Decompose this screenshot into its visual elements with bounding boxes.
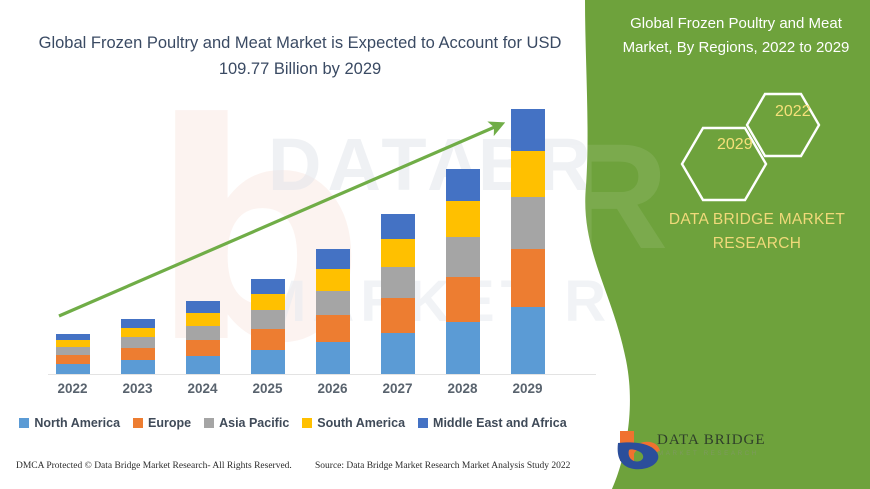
bar-segment-2022-s1 bbox=[56, 355, 90, 364]
bar-segment-2026-s0 bbox=[316, 342, 350, 374]
bar-segment-2027-s0 bbox=[381, 333, 415, 374]
bar-segment-2024-s0 bbox=[186, 356, 220, 374]
x-axis-label-2027: 2027 bbox=[368, 381, 428, 396]
bar-segment-2022-s2 bbox=[56, 347, 90, 355]
logo-subtitle: MARKET RESEARCH bbox=[658, 450, 759, 457]
bar-segment-2024-s3 bbox=[186, 313, 220, 326]
bar-segment-2029-s2 bbox=[511, 197, 545, 249]
bar-2026 bbox=[316, 249, 350, 374]
bar-segment-2028-s3 bbox=[446, 201, 480, 237]
x-axis-label-2023: 2023 bbox=[108, 381, 168, 396]
bar-segment-2028-s2 bbox=[446, 237, 480, 277]
x-axis-label-2028: 2028 bbox=[433, 381, 493, 396]
legend-label: Europe bbox=[148, 416, 191, 430]
bar-segment-2029-s0 bbox=[511, 307, 545, 374]
chart-x-axis-labels: 20222023202420252026202720282029 bbox=[0, 381, 586, 403]
legend-label: South America bbox=[317, 416, 405, 430]
bar-segment-2022-s0 bbox=[56, 364, 90, 374]
bar-segment-2029-s1 bbox=[511, 249, 545, 307]
chart-legend: North AmericaEuropeAsia PacificSouth Ame… bbox=[0, 416, 586, 430]
bar-segment-2026-s1 bbox=[316, 315, 350, 342]
bar-segment-2027-s2 bbox=[381, 267, 415, 298]
legend-label: Middle East and Africa bbox=[433, 416, 567, 430]
page-title: Global Frozen Poultry and Meat Market is… bbox=[24, 30, 576, 82]
bar-segment-2023-s3 bbox=[121, 328, 155, 338]
bar-segment-2023-s2 bbox=[121, 337, 155, 348]
bar-segment-2025-s4 bbox=[251, 279, 285, 294]
bar-segment-2022-s3 bbox=[56, 340, 90, 347]
bar-segment-2029-s4 bbox=[511, 109, 545, 151]
panel-brand-line2: RESEARCH bbox=[648, 232, 866, 256]
x-axis-label-2024: 2024 bbox=[173, 381, 233, 396]
x-axis-label-2029: 2029 bbox=[498, 381, 558, 396]
logo-wordmark: DATA BRIDGE bbox=[657, 432, 766, 449]
infographic-root: b DATA BRIDGE MARKET RESEARCH R Global F… bbox=[0, 0, 870, 489]
bar-segment-2024-s2 bbox=[186, 326, 220, 340]
bar-2024 bbox=[186, 301, 220, 374]
bar-segment-2026-s3 bbox=[316, 269, 350, 291]
bar-2025 bbox=[251, 279, 285, 374]
hexagon-2022-label: 2022 bbox=[775, 103, 811, 121]
bar-segment-2025-s2 bbox=[251, 310, 285, 328]
legend-item-north-america[interactable]: North America bbox=[19, 416, 120, 430]
legend-swatch-icon bbox=[19, 418, 29, 428]
bar-segment-2024-s4 bbox=[186, 301, 220, 312]
legend-item-middle-east-and-africa[interactable]: Middle East and Africa bbox=[418, 416, 567, 430]
legend-swatch-icon bbox=[302, 418, 312, 428]
legend-swatch-icon bbox=[418, 418, 428, 428]
x-axis-label-2026: 2026 bbox=[303, 381, 363, 396]
bar-segment-2027-s3 bbox=[381, 239, 415, 267]
legend-label: North America bbox=[34, 416, 120, 430]
bar-segment-2029-s3 bbox=[511, 151, 545, 197]
bar-2027 bbox=[381, 214, 415, 374]
bar-2023 bbox=[121, 319, 155, 374]
footer-source-note: Source: Data Bridge Market Research Mark… bbox=[315, 461, 570, 471]
panel-brand-line1: DATA BRIDGE MARKET bbox=[648, 208, 866, 232]
legend-swatch-icon bbox=[133, 418, 143, 428]
chart-container bbox=[0, 95, 586, 380]
bar-segment-2025-s1 bbox=[251, 329, 285, 350]
bar-segment-2023-s0 bbox=[121, 360, 155, 374]
legend-swatch-icon bbox=[204, 418, 214, 428]
bar-2022 bbox=[56, 334, 90, 374]
chart-x-axis bbox=[48, 374, 596, 375]
bar-segment-2026-s4 bbox=[316, 249, 350, 269]
hexagon-2029-label: 2029 bbox=[717, 136, 753, 154]
bar-segment-2023-s1 bbox=[121, 348, 155, 360]
x-axis-label-2022: 2022 bbox=[43, 381, 103, 396]
panel-brand-text: DATA BRIDGE MARKET RESEARCH bbox=[648, 208, 866, 256]
panel-title: Global Frozen Poultry and Meat Market, B… bbox=[612, 12, 860, 60]
bar-segment-2027-s1 bbox=[381, 298, 415, 333]
legend-item-europe[interactable]: Europe bbox=[133, 416, 191, 430]
footer-dmca-notice: DMCA Protected © Data Bridge Market Rese… bbox=[16, 461, 292, 471]
bar-segment-2028-s0 bbox=[446, 322, 480, 374]
chart-plot-area bbox=[40, 95, 560, 375]
legend-label: Asia Pacific bbox=[219, 416, 289, 430]
x-axis-label-2025: 2025 bbox=[238, 381, 298, 396]
bar-segment-2025-s0 bbox=[251, 350, 285, 374]
bar-segment-2025-s3 bbox=[251, 294, 285, 311]
bar-segment-2024-s1 bbox=[186, 340, 220, 356]
bar-2028 bbox=[446, 169, 480, 375]
bar-segment-2028-s4 bbox=[446, 169, 480, 201]
bar-segment-2028-s1 bbox=[446, 277, 480, 322]
bar-segment-2027-s4 bbox=[381, 214, 415, 239]
legend-item-south-america[interactable]: South America bbox=[302, 416, 405, 430]
hexagon-group: 2029 2022 bbox=[655, 92, 845, 202]
bar-segment-2023-s4 bbox=[121, 319, 155, 328]
legend-item-asia-pacific[interactable]: Asia Pacific bbox=[204, 416, 289, 430]
bar-2029 bbox=[511, 109, 545, 374]
bar-segment-2026-s2 bbox=[316, 291, 350, 315]
